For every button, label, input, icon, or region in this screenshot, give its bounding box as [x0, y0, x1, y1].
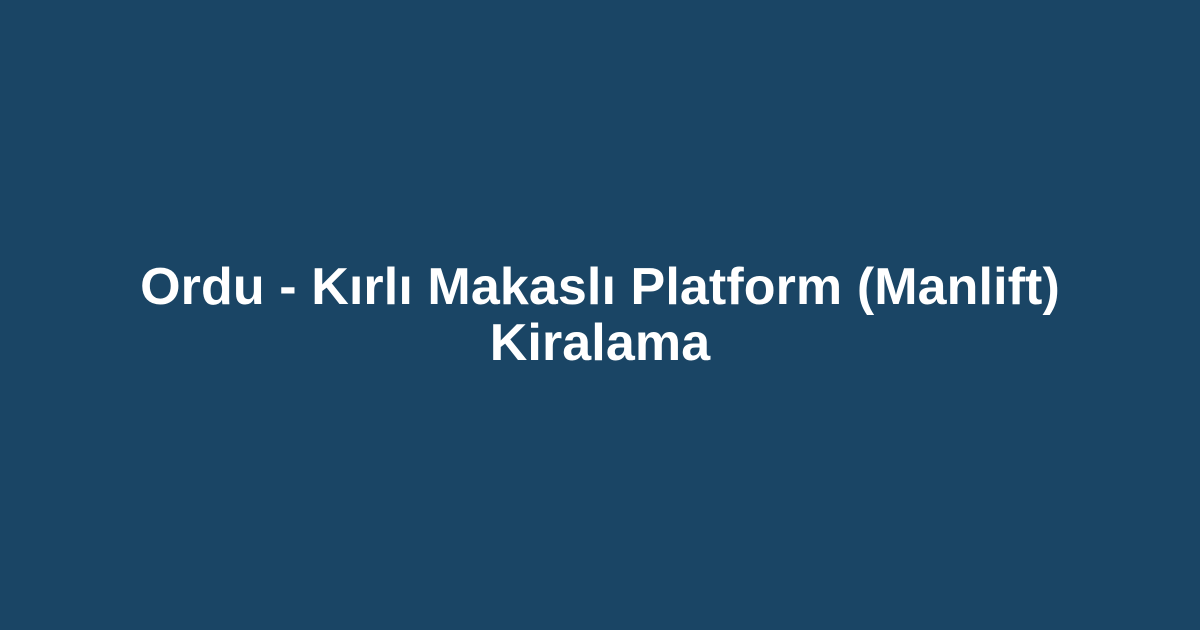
page-title: Ordu - Kırlı Makaslı Platform (Manlift) …	[120, 259, 1080, 371]
title-block: Ordu - Kırlı Makaslı Platform (Manlift) …	[120, 259, 1080, 371]
og-preview-card: Ordu - Kırlı Makaslı Platform (Manlift) …	[0, 0, 1200, 630]
